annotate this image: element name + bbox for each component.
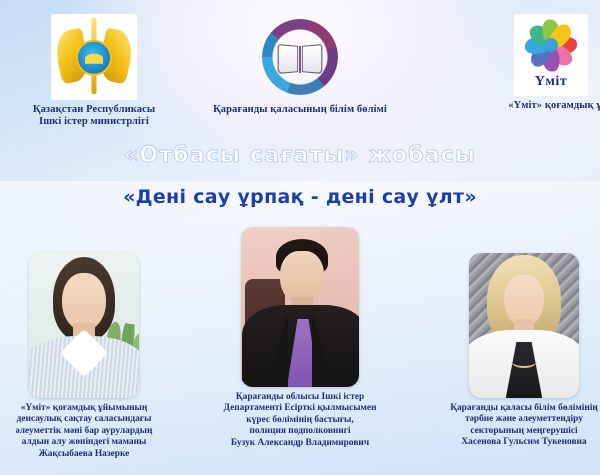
logo-caption-line: Ішкі істер министрлігі <box>8 116 180 128</box>
caption-line: Департаменті Есірткі қылмысымен <box>196 403 404 414</box>
person-caption-right: Қарағанды қаласы білім бөлімінің тәрбие … <box>424 403 600 449</box>
open-book-ring-logo-icon <box>257 14 343 100</box>
caption-line: Бузук Александр Владимирович <box>196 438 404 449</box>
logo-caption-line: «Үміт» қоғамдық ұйымы <box>470 100 600 112</box>
caption-line: тәрбие және әлеуметтендіру <box>424 414 600 425</box>
person-caption-left: «Үміт» қоғамдық ұйымының денсаулық сақта… <box>0 403 184 460</box>
caption-line: Жақсыбаева Назерке <box>0 449 184 460</box>
logo-caption-education: Қарағанды қаласының білім бөлімі <box>196 104 404 116</box>
caption-line: алдын алу жөніндегі маманы <box>0 437 184 448</box>
presentation-slide: Қазақстан Республикасы Ішкі істер минист… <box>0 0 600 475</box>
person-card-right: Қарағанды қаласы білім бөлімінің тәрбие … <box>424 253 600 449</box>
caption-line: «Үміт» қоғамдық ұйымының <box>0 403 184 414</box>
kazakhstan-mvd-emblem-icon <box>51 14 137 100</box>
logo-caption-line: Қазақстан Республикасы <box>8 104 180 116</box>
flower-core <box>544 38 558 52</box>
umit-flower-logo-icon: Үміт <box>514 14 588 96</box>
person-card-center: Қарағанды облысы Ішкі істер Департаменті… <box>196 227 404 449</box>
person-photo-center <box>241 227 359 387</box>
logo-block-mvd: Қазақстан Республикасы Ішкі істер минист… <box>8 14 180 129</box>
caption-line: Қарағанды қаласы білім бөлімінің <box>424 403 600 414</box>
logo-caption-mvd: Қазақстан Республикасы Ішкі істер минист… <box>8 104 180 129</box>
person-photo-right <box>469 253 579 398</box>
person-caption-center: Қарағанды облысы Ішкі істер Департаменті… <box>196 392 404 449</box>
caption-line: әлеуметтік мәні бар аурулардың <box>0 426 184 437</box>
person-photo-left <box>29 253 139 398</box>
slide-title-sub: «Дені сау ұрпақ - дені сау ұлт» <box>0 186 600 208</box>
logo-caption-line: Қарағанды қаласының білім бөлімі <box>196 104 404 116</box>
slide-title-main: «Отбасы сағаты» жобасы <box>0 143 600 168</box>
umit-logo-label: Үміт <box>514 74 588 90</box>
caption-line: денсаулық сақтау саласындағы <box>0 414 184 425</box>
caption-line: Хасенова Гульсим Тукеновна <box>424 437 600 448</box>
logo-block-umit: Үміт «Үміт» қоғамдық ұйымы <box>470 14 600 112</box>
caption-line: Қарағанды облысы Ішкі істер <box>196 392 404 403</box>
caption-line: күрес бөлімінің бастығы, <box>196 415 404 426</box>
logo-caption-umit: «Үміт» қоғамдық ұйымы <box>470 100 600 112</box>
person-card-left: «Үміт» қоғамдық ұйымының денсаулық сақта… <box>0 253 184 460</box>
logo-block-education: Қарағанды қаласының білім бөлімі <box>196 14 404 116</box>
caption-line: полиция подполковнигі <box>196 426 404 437</box>
caption-line: секторының меңгерушісі <box>424 426 600 437</box>
